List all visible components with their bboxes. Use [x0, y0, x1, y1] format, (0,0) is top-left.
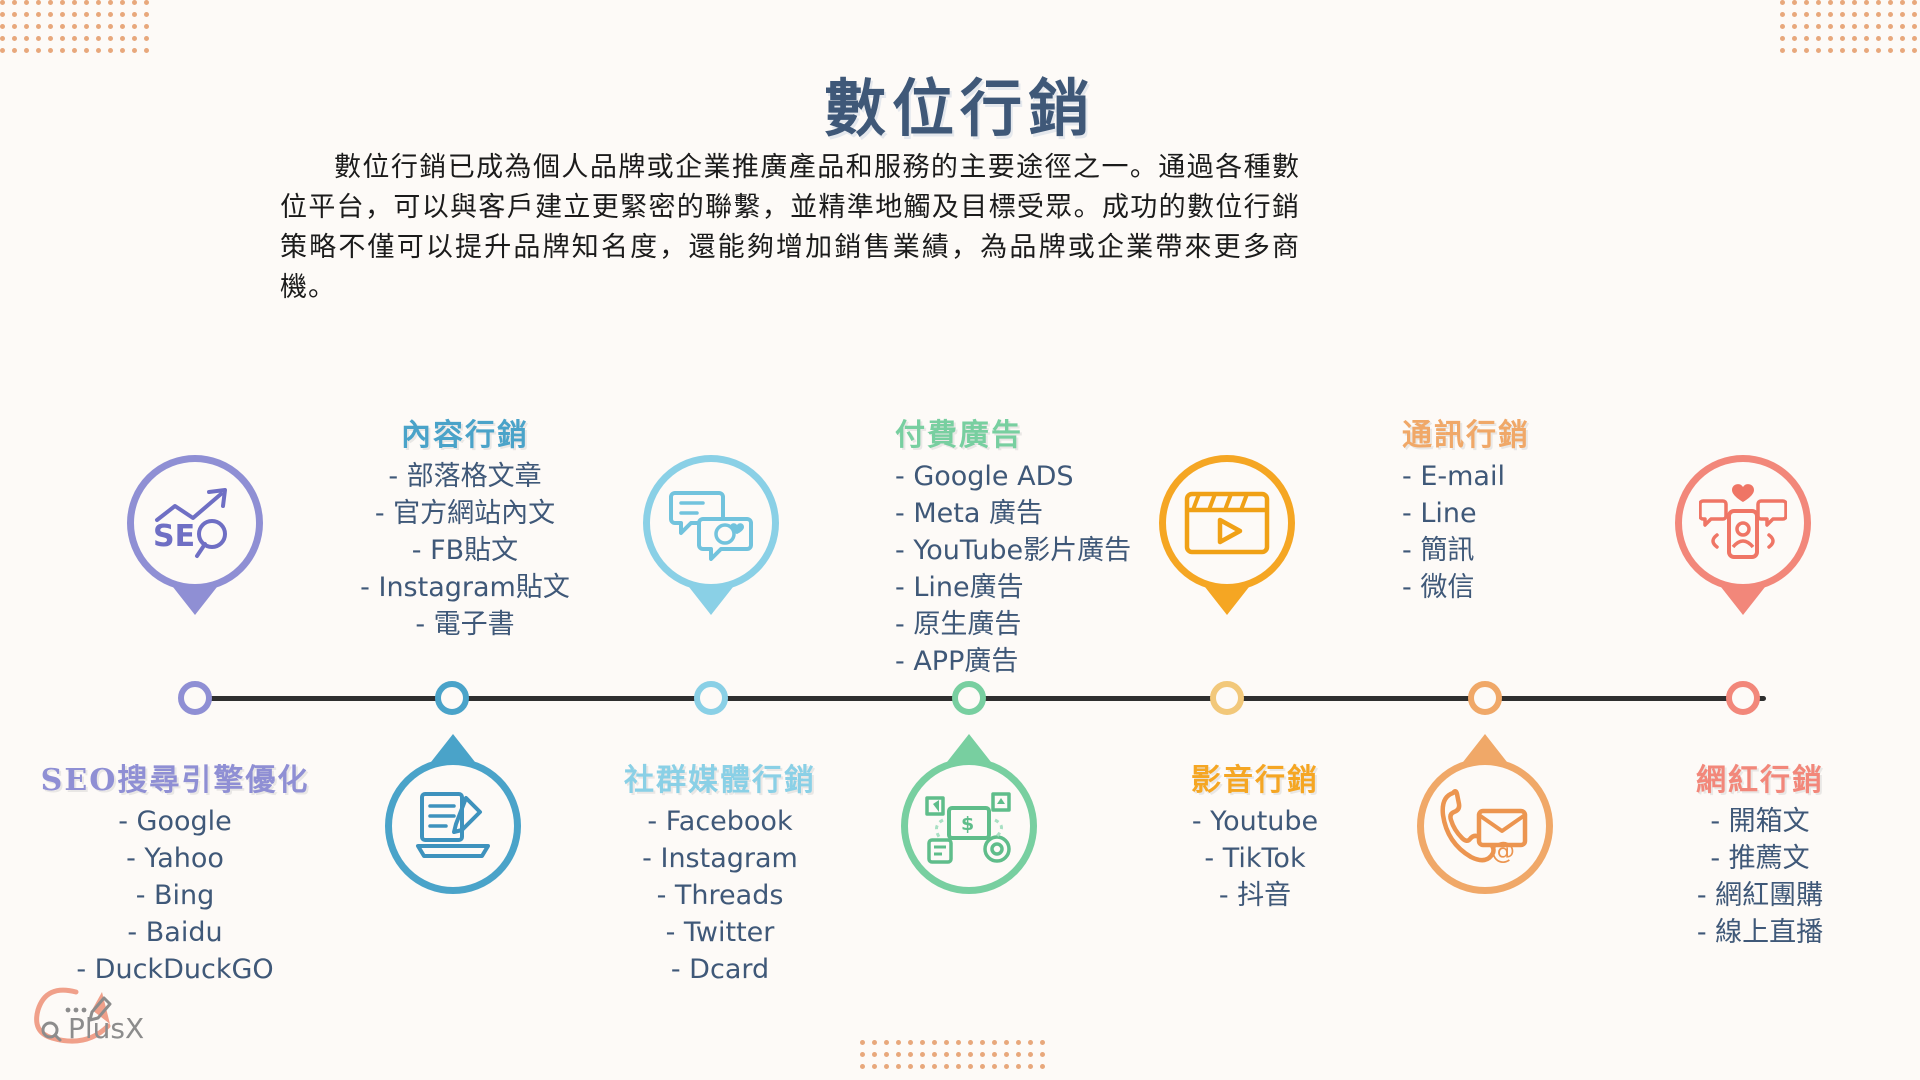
pattern-dot — [0, 36, 5, 41]
pattern-dot — [60, 24, 65, 29]
pattern-dot — [1888, 0, 1893, 5]
pattern-dot — [0, 24, 5, 29]
list-item: - TikTok — [1140, 840, 1370, 877]
pattern-dot — [1828, 24, 1833, 29]
pattern-dot — [60, 0, 65, 5]
pattern-dot — [872, 1040, 877, 1045]
list-item: - 官方網站內文 — [340, 495, 590, 532]
pattern-dot — [1780, 24, 1785, 29]
pattern-dot — [980, 1052, 985, 1057]
pattern-dot — [956, 1052, 961, 1057]
list-item: - 簡訊 — [1402, 532, 1632, 569]
pattern-dot — [1816, 12, 1821, 17]
section-heading-messaging: 通訊行銷 — [1402, 410, 1632, 454]
pattern-dot — [860, 1052, 865, 1057]
pattern-dot — [96, 0, 101, 5]
pattern-dot — [24, 0, 29, 5]
pattern-dot — [944, 1040, 949, 1045]
list-item: - DuckDuckGO — [40, 951, 310, 988]
pattern-dot — [1912, 0, 1917, 5]
pattern-dot — [36, 36, 41, 41]
pattern-dot — [72, 0, 77, 5]
seo-magnifier-icon: SE — [149, 484, 241, 562]
list-item: - Google — [40, 803, 310, 840]
pattern-dot — [920, 1052, 925, 1057]
pattern-dot — [24, 36, 29, 41]
section-list-social: - Facebook - Instagram - Threads - Twitt… — [590, 803, 850, 988]
pattern-dot — [48, 48, 53, 53]
pattern-dot — [1780, 0, 1785, 5]
list-item: - Bing — [40, 877, 310, 914]
svg-text:SE: SE — [153, 519, 195, 554]
pattern-dot — [1040, 1064, 1045, 1069]
pattern-dot — [1780, 48, 1785, 53]
pattern-dot — [1040, 1052, 1045, 1057]
pattern-dot — [932, 1064, 937, 1069]
pattern-dot — [1816, 36, 1821, 41]
list-item: - 電子書 — [340, 606, 590, 643]
pattern-dot — [1804, 12, 1809, 17]
section-content: 內容行銷 - 部落格文章 - 官方網站內文 - FB貼文 - Instagram… — [340, 410, 590, 643]
pattern-dot — [968, 1064, 973, 1069]
timeline-node-messaging[interactable] — [1468, 681, 1502, 715]
pattern-dot — [84, 48, 89, 53]
pattern-dot — [1004, 1052, 1009, 1057]
pattern-dot — [908, 1064, 913, 1069]
pattern-dot — [1852, 24, 1857, 29]
page-title: 數位行銷 — [0, 58, 1920, 148]
pin-social[interactable] — [643, 455, 779, 591]
pattern-dot — [36, 48, 41, 53]
list-item: - Google ADS — [895, 458, 1165, 495]
pattern-dot — [48, 12, 53, 17]
pattern-dot — [1804, 48, 1809, 53]
pattern-dot — [1864, 0, 1869, 5]
pattern-dot — [1864, 36, 1869, 41]
list-item: - Instagram — [590, 840, 850, 877]
section-heading-content: 內容行銷 — [340, 410, 590, 454]
pattern-dot — [120, 12, 125, 17]
pattern-dot — [1876, 24, 1881, 29]
pattern-dot — [108, 12, 113, 17]
list-item: - Twitter — [590, 914, 850, 951]
list-item: - 部落格文章 — [340, 458, 590, 495]
pattern-dot — [12, 0, 17, 5]
document-pen-laptop-icon — [410, 788, 496, 864]
pattern-dot — [12, 48, 17, 53]
pattern-dot — [1852, 0, 1857, 5]
pattern-dot — [84, 24, 89, 29]
list-item: - FB貼文 — [340, 532, 590, 569]
pattern-dot — [24, 24, 29, 29]
pattern-dot — [860, 1064, 865, 1069]
section-influencer: 網紅行銷 - 開箱文 - 推薦文 - 網紅團購 - 線上直播 — [1640, 755, 1880, 951]
timeline-node-video[interactable] — [1210, 681, 1244, 715]
pattern-dot — [1912, 24, 1917, 29]
list-item: - Instagram貼文 — [340, 569, 590, 606]
pattern-dot — [72, 48, 77, 53]
pattern-dot — [1900, 36, 1905, 41]
list-item: - Threads — [590, 877, 850, 914]
pattern-dot — [1876, 12, 1881, 17]
pattern-dot — [96, 48, 101, 53]
pin-paid-ads[interactable]: $ — [901, 758, 1037, 894]
svg-text:$: $ — [961, 813, 974, 835]
pattern-dot — [872, 1064, 877, 1069]
pattern-dot — [968, 1040, 973, 1045]
pattern-dot — [956, 1040, 961, 1045]
pattern-dot — [120, 36, 125, 41]
pattern-dot — [1828, 36, 1833, 41]
timeline-node-paid-ads[interactable] — [952, 681, 986, 715]
pattern-dot — [1840, 0, 1845, 5]
pattern-dot — [1912, 48, 1917, 53]
list-item: - 抖音 — [1140, 877, 1370, 914]
list-item: - Baidu — [40, 914, 310, 951]
pattern-dot — [920, 1064, 925, 1069]
timeline-node-social[interactable] — [694, 681, 728, 715]
pattern-dot — [1912, 36, 1917, 41]
pattern-dot — [1792, 0, 1797, 5]
section-heading-video: 影音行銷 — [1140, 755, 1370, 799]
pattern-dot — [1888, 48, 1893, 53]
pattern-dot — [1016, 1040, 1021, 1045]
pattern-dot — [992, 1040, 997, 1045]
pattern-dot — [120, 48, 125, 53]
pattern-dot — [1876, 36, 1881, 41]
pattern-dot — [108, 24, 113, 29]
pattern-dot — [896, 1064, 901, 1069]
list-item: - APP廣告 — [895, 643, 1165, 680]
pattern-dot — [932, 1052, 937, 1057]
chat-bubbles-icon — [667, 485, 755, 561]
pattern-dot — [1816, 48, 1821, 53]
section-seo: SEO搜尋引擎優化 - Google - Yahoo - Bing - Baid… — [40, 755, 310, 988]
pattern-dot — [1852, 48, 1857, 53]
pattern-dot — [48, 36, 53, 41]
pattern-dot — [1792, 12, 1797, 17]
pattern-dot — [860, 1040, 865, 1045]
pattern-dot — [992, 1064, 997, 1069]
pattern-dot — [1840, 48, 1845, 53]
pattern-dot — [1900, 48, 1905, 53]
pattern-dot — [144, 36, 149, 41]
list-item: - Dcard — [590, 951, 850, 988]
list-item: - E-mail — [1402, 458, 1632, 495]
pin-messaging[interactable]: @ — [1417, 758, 1553, 894]
section-list-influencer: - 開箱文 - 推薦文 - 網紅團購 - 線上直播 — [1640, 803, 1880, 951]
section-heading-paid-ads: 付費廣告 — [895, 410, 1165, 454]
pattern-dot — [132, 12, 137, 17]
pattern-dot — [1828, 12, 1833, 17]
pattern-dot — [1792, 48, 1797, 53]
section-messaging: 通訊行銷 - E-mail - Line - 簡訊 - 微信 — [1402, 410, 1632, 606]
pattern-dot — [60, 12, 65, 17]
list-item: - Line廣告 — [895, 569, 1165, 606]
pattern-dot — [896, 1040, 901, 1045]
pattern-dot — [932, 1040, 937, 1045]
pattern-dot — [96, 12, 101, 17]
pattern-dot — [992, 1052, 997, 1057]
timeline-node-content[interactable] — [435, 681, 469, 715]
list-item: - 開箱文 — [1640, 803, 1880, 840]
intro-paragraph: 數位行銷已成為個人品牌或企業推廣產品和服務的主要途徑之一。通過各種數位平台，可以… — [280, 148, 1300, 308]
pin-video[interactable] — [1159, 455, 1295, 591]
section-heading-influencer: 網紅行銷 — [1640, 755, 1880, 799]
list-item: - 微信 — [1402, 569, 1632, 606]
pattern-dot — [1816, 24, 1821, 29]
pattern-dot — [1912, 12, 1917, 17]
pattern-dot — [980, 1064, 985, 1069]
pattern-dot — [908, 1040, 913, 1045]
list-item: - 網紅團購 — [1640, 877, 1880, 914]
pattern-dot — [1864, 48, 1869, 53]
pattern-dot — [48, 0, 53, 5]
pattern-dot — [1028, 1052, 1033, 1057]
list-item: - YouTube影片廣告 — [895, 532, 1165, 569]
pattern-dot — [1828, 0, 1833, 5]
list-item: - 線上直播 — [1640, 914, 1880, 951]
pattern-dot — [144, 0, 149, 5]
pattern-dot — [956, 1064, 961, 1069]
pattern-dot — [1028, 1064, 1033, 1069]
pattern-dot — [1888, 36, 1893, 41]
pattern-dot — [108, 0, 113, 5]
pattern-dot — [120, 24, 125, 29]
pattern-dot — [1900, 12, 1905, 17]
pattern-dot — [120, 0, 125, 5]
section-paid-ads: 付費廣告 - Google ADS - Meta 廣告 - YouTube影片廣… — [895, 410, 1165, 680]
pattern-dot — [132, 48, 137, 53]
pattern-dot — [884, 1052, 889, 1057]
pattern-dot — [872, 1052, 877, 1057]
pattern-dot — [884, 1040, 889, 1045]
pattern-dot — [144, 24, 149, 29]
pattern-dot — [72, 36, 77, 41]
pattern-dot — [908, 1052, 913, 1057]
phone-hearts-icon — [1699, 483, 1787, 563]
section-heading-seo: SEO搜尋引擎優化 — [40, 755, 310, 799]
pin-influencer[interactable] — [1675, 455, 1811, 591]
pattern-dot — [1876, 48, 1881, 53]
pattern-dot — [980, 1040, 985, 1045]
pin-content[interactable] — [385, 758, 521, 894]
section-video: 影音行銷 - Youtube - TikTok - 抖音 — [1140, 755, 1370, 914]
pattern-dot — [84, 12, 89, 17]
list-item: - 推薦文 — [1640, 840, 1880, 877]
pattern-dot — [1828, 48, 1833, 53]
pattern-dot — [1016, 1052, 1021, 1057]
video-player-icon — [1183, 488, 1271, 558]
phone-envelope-icon: @ — [1439, 787, 1531, 865]
pattern-dot — [96, 24, 101, 29]
pattern-dot — [12, 24, 17, 29]
pattern-dot — [48, 24, 53, 29]
list-item: - Youtube — [1140, 803, 1370, 840]
pattern-dot — [36, 12, 41, 17]
pattern-dot — [24, 12, 29, 17]
pattern-dot — [72, 12, 77, 17]
pattern-dot — [84, 0, 89, 5]
pattern-dot — [144, 12, 149, 17]
list-item: - 原生廣告 — [895, 606, 1165, 643]
pattern-dot — [36, 24, 41, 29]
pattern-dot — [1864, 12, 1869, 17]
pattern-dot — [0, 48, 5, 53]
section-list-content: - 部落格文章 - 官方網站內文 - FB貼文 - Instagram貼文 - … — [340, 458, 590, 643]
section-list-paid-ads: - Google ADS - Meta 廣告 - YouTube影片廣告 - L… — [895, 458, 1165, 680]
pattern-dot — [0, 0, 5, 5]
pattern-dot — [1876, 0, 1881, 5]
pattern-dot — [1040, 1040, 1045, 1045]
pattern-dot — [84, 36, 89, 41]
pattern-dot — [1004, 1040, 1009, 1045]
pattern-dot — [1804, 0, 1809, 5]
pattern-dot — [1864, 24, 1869, 29]
pattern-dot — [896, 1052, 901, 1057]
timeline-node-seo[interactable] — [178, 681, 212, 715]
section-list-seo: - Google - Yahoo - Bing - Baidu - DuckDu… — [40, 803, 310, 988]
list-item: - Yahoo — [40, 840, 310, 877]
list-item: - Meta 廣告 — [895, 495, 1165, 532]
pattern-dot — [944, 1052, 949, 1057]
pattern-dot — [60, 36, 65, 41]
pattern-dot — [0, 12, 5, 17]
watermark-plusx: PlusX — [20, 986, 170, 1066]
pattern-dot — [944, 1064, 949, 1069]
pattern-dot — [1804, 24, 1809, 29]
pattern-dot — [1852, 12, 1857, 17]
pattern-dot — [920, 1040, 925, 1045]
megaphone-screen-icon: $ — [923, 786, 1015, 866]
pattern-dot — [1792, 36, 1797, 41]
watermark-label: PlusX — [68, 1012, 144, 1045]
list-item: - Line — [1402, 495, 1632, 532]
timeline-node-influencer[interactable] — [1726, 681, 1760, 715]
pattern-dot — [1816, 0, 1821, 5]
pattern-dot — [132, 24, 137, 29]
pattern-dot — [1004, 1064, 1009, 1069]
section-list-video: - Youtube - TikTok - 抖音 — [1140, 803, 1370, 914]
section-social: 社群媒體行銷 - Facebook - Instagram - Threads … — [590, 755, 850, 988]
pattern-dot — [24, 48, 29, 53]
pattern-dot — [60, 48, 65, 53]
section-heading-social: 社群媒體行銷 — [590, 755, 850, 799]
pattern-dot — [132, 0, 137, 5]
pattern-dot — [1888, 12, 1893, 17]
pattern-dot — [1900, 24, 1905, 29]
pattern-dot — [1888, 24, 1893, 29]
pin-seo[interactable]: SE — [127, 455, 263, 591]
pattern-dot — [1792, 24, 1797, 29]
pattern-dot — [12, 12, 17, 17]
pattern-dot — [1840, 36, 1845, 41]
pattern-dot — [1016, 1064, 1021, 1069]
pattern-dot — [108, 36, 113, 41]
list-item: - Facebook — [590, 803, 850, 840]
section-list-messaging: - E-mail - Line - 簡訊 - 微信 — [1402, 458, 1632, 606]
pattern-dot — [1804, 36, 1809, 41]
pattern-dot — [1780, 36, 1785, 41]
pattern-dot — [132, 36, 137, 41]
pattern-dot — [1028, 1040, 1033, 1045]
pattern-dot — [144, 48, 149, 53]
pattern-dot — [108, 48, 113, 53]
pattern-dot — [96, 36, 101, 41]
pattern-dot — [884, 1064, 889, 1069]
pattern-dot — [1852, 36, 1857, 41]
pattern-dot — [72, 24, 77, 29]
pattern-dot — [12, 36, 17, 41]
pattern-dot — [36, 0, 41, 5]
pattern-dot — [968, 1052, 973, 1057]
pattern-dot — [1840, 12, 1845, 17]
svg-text:@: @ — [1491, 837, 1515, 865]
pattern-dot — [1780, 12, 1785, 17]
infographic-canvas: 數位行銷 數位行銷已成為個人品牌或企業推廣產品和服務的主要途徑之一。通過各種數位… — [0, 0, 1920, 1080]
pattern-dot — [1840, 24, 1845, 29]
pattern-dot — [1900, 0, 1905, 5]
